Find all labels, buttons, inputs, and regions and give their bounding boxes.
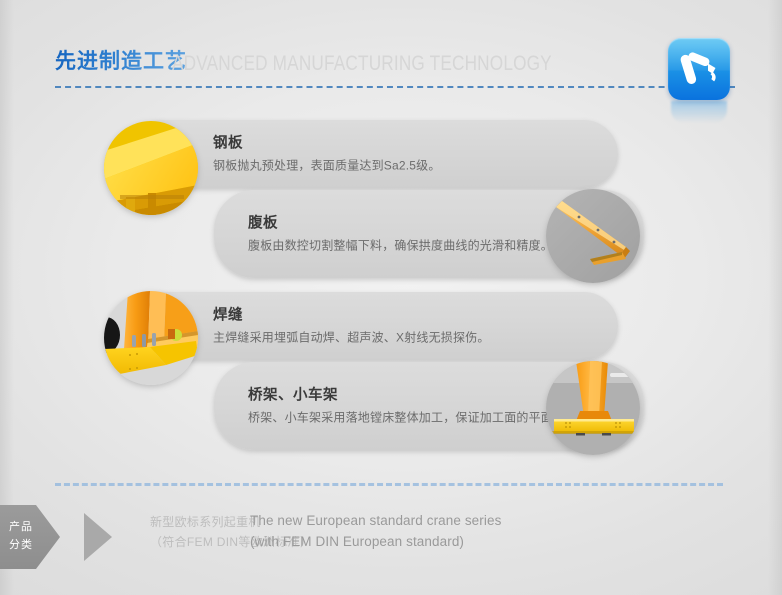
process-card[interactable]: 焊缝 主焊缝采用埋弧自动焊、超声波、X射线无损探伤。 bbox=[128, 292, 618, 360]
process-card-text: 焊缝 主焊缝采用埋弧自动焊、超声波、X射线无损探伤。 bbox=[213, 306, 490, 347]
process-card-title: 桥架、小车架 bbox=[248, 386, 577, 407]
process-card-text: 钢板 钢板抛丸预处理，表面质量达到Sa2.5级。 bbox=[213, 134, 441, 175]
process-card-desc: 桥架、小车架采用落地镗床整体加工，保证加工面的平面度。 bbox=[248, 410, 577, 427]
process-card[interactable]: 钢板 钢板抛丸预处理，表面质量达到Sa2.5级。 bbox=[128, 120, 618, 188]
yellow-steel-plate-photo bbox=[104, 121, 198, 215]
page-root: 先进制造工艺 ADVANCED MANUFACTURING TECHNOLOGY bbox=[0, 0, 782, 595]
process-card-desc: 腹板由数控切割整幅下料，确保拱度曲线的光滑和精度。 bbox=[248, 238, 553, 255]
footer-divider bbox=[55, 483, 723, 486]
product-category-tab[interactable]: 产品 分类 bbox=[0, 505, 60, 569]
crane-web-plate-photo bbox=[546, 189, 640, 283]
process-card-title: 腹板 bbox=[248, 214, 553, 235]
process-card-list: 钢板 钢板抛丸预处理，表面质量达到Sa2.5级。 腹板 腹板由数控切割整幅下料，… bbox=[0, 0, 782, 595]
process-card-text: 腹板 腹板由数控切割整幅下料，确保拱度曲线的光滑和精度。 bbox=[248, 214, 553, 255]
chevron-right-icon bbox=[84, 513, 112, 561]
category-tab-line2: 分类 bbox=[4, 536, 38, 554]
category-tab-labels: 产品 分类 bbox=[4, 518, 38, 554]
category-tab-line1: 产品 bbox=[4, 518, 38, 536]
footer-en-line2: (with FEM DIN European standard) bbox=[250, 531, 501, 552]
process-card-title: 焊缝 bbox=[213, 306, 490, 327]
process-card-text: 桥架、小车架 桥架、小车架采用落地镗床整体加工，保证加工面的平面度。 bbox=[248, 386, 577, 427]
bridge-trolley-frame-photo bbox=[546, 361, 640, 455]
process-card-desc: 钢板抛丸预处理，表面质量达到Sa2.5级。 bbox=[213, 158, 441, 175]
footer-caption-en: The new European standard crane series (… bbox=[250, 510, 501, 552]
process-card-title: 钢板 bbox=[213, 134, 441, 155]
weld-seam-photo bbox=[104, 291, 198, 385]
footer-en-line1: The new European standard crane series bbox=[250, 510, 501, 531]
process-card-desc: 主焊缝采用埋弧自动焊、超声波、X射线无损探伤。 bbox=[213, 330, 490, 347]
